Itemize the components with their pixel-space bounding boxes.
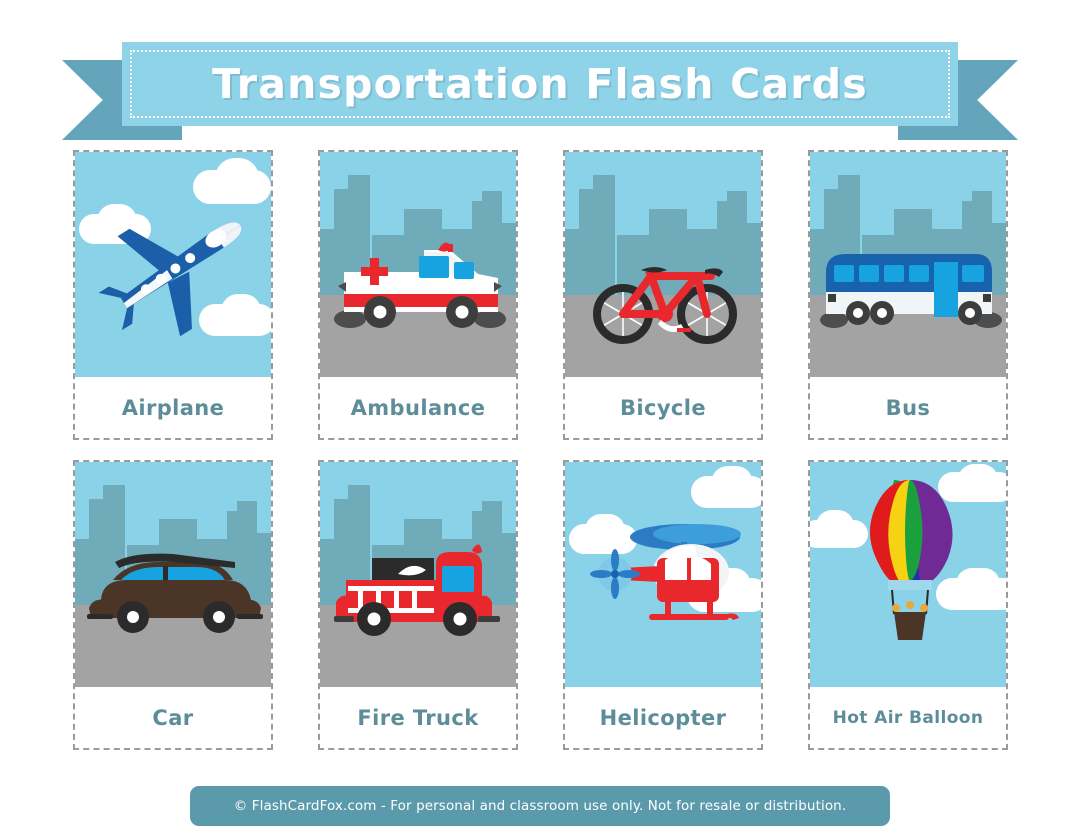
airplane-icon bbox=[75, 152, 271, 377]
flash-card-helicopter[interactable]: Helicopter bbox=[563, 460, 763, 750]
card-image-fire-truck bbox=[320, 462, 516, 687]
card-image-helicopter bbox=[565, 462, 761, 687]
card-label-ambulance: Ambulance bbox=[320, 377, 516, 438]
flash-card-bus[interactable]: Bus bbox=[808, 150, 1008, 440]
helicopter-icon bbox=[565, 462, 761, 687]
banner-body: Transportation Flash Cards bbox=[122, 42, 958, 126]
flash-card-airplane[interactable]: Airplane bbox=[73, 150, 273, 440]
card-label-fire-truck: Fire Truck bbox=[320, 687, 516, 748]
card-image-bicycle bbox=[565, 152, 761, 377]
copyright-footer: © FlashCardFox.com - For personal and cl… bbox=[190, 786, 890, 826]
card-label-hot-air-balloon: Hot Air Balloon bbox=[810, 687, 1006, 748]
card-label-bicycle: Bicycle bbox=[565, 377, 761, 438]
title-banner: Transportation Flash Cards bbox=[0, 18, 1080, 140]
card-label-car: Car bbox=[75, 687, 271, 748]
card-image-airplane bbox=[75, 152, 271, 377]
car-icon bbox=[75, 462, 271, 687]
copyright-text: © FlashCardFox.com - For personal and cl… bbox=[234, 798, 846, 814]
flash-card-hot-air-balloon[interactable]: Hot Air Balloon bbox=[808, 460, 1008, 750]
flash-card-car[interactable]: Car bbox=[73, 460, 273, 750]
flash-card-grid: Airplane bbox=[73, 150, 1013, 750]
fire-truck-icon bbox=[320, 462, 516, 687]
ambulance-icon bbox=[320, 152, 516, 377]
hot-air-balloon-icon bbox=[810, 462, 1006, 687]
card-image-ambulance bbox=[320, 152, 516, 377]
flash-card-bicycle[interactable]: Bicycle bbox=[563, 150, 763, 440]
bicycle-icon bbox=[565, 152, 761, 377]
flash-card-ambulance[interactable]: Ambulance bbox=[318, 150, 518, 440]
card-label-airplane: Airplane bbox=[75, 377, 271, 438]
card-image-car bbox=[75, 462, 271, 687]
card-label-bus: Bus bbox=[810, 377, 1006, 438]
card-label-helicopter: Helicopter bbox=[565, 687, 761, 748]
bus-icon bbox=[810, 152, 1006, 377]
card-image-hot-air-balloon bbox=[810, 462, 1006, 687]
page-title: Transportation Flash Cards bbox=[122, 42, 958, 126]
card-image-bus bbox=[810, 152, 1006, 377]
flash-card-fire-truck[interactable]: Fire Truck bbox=[318, 460, 518, 750]
